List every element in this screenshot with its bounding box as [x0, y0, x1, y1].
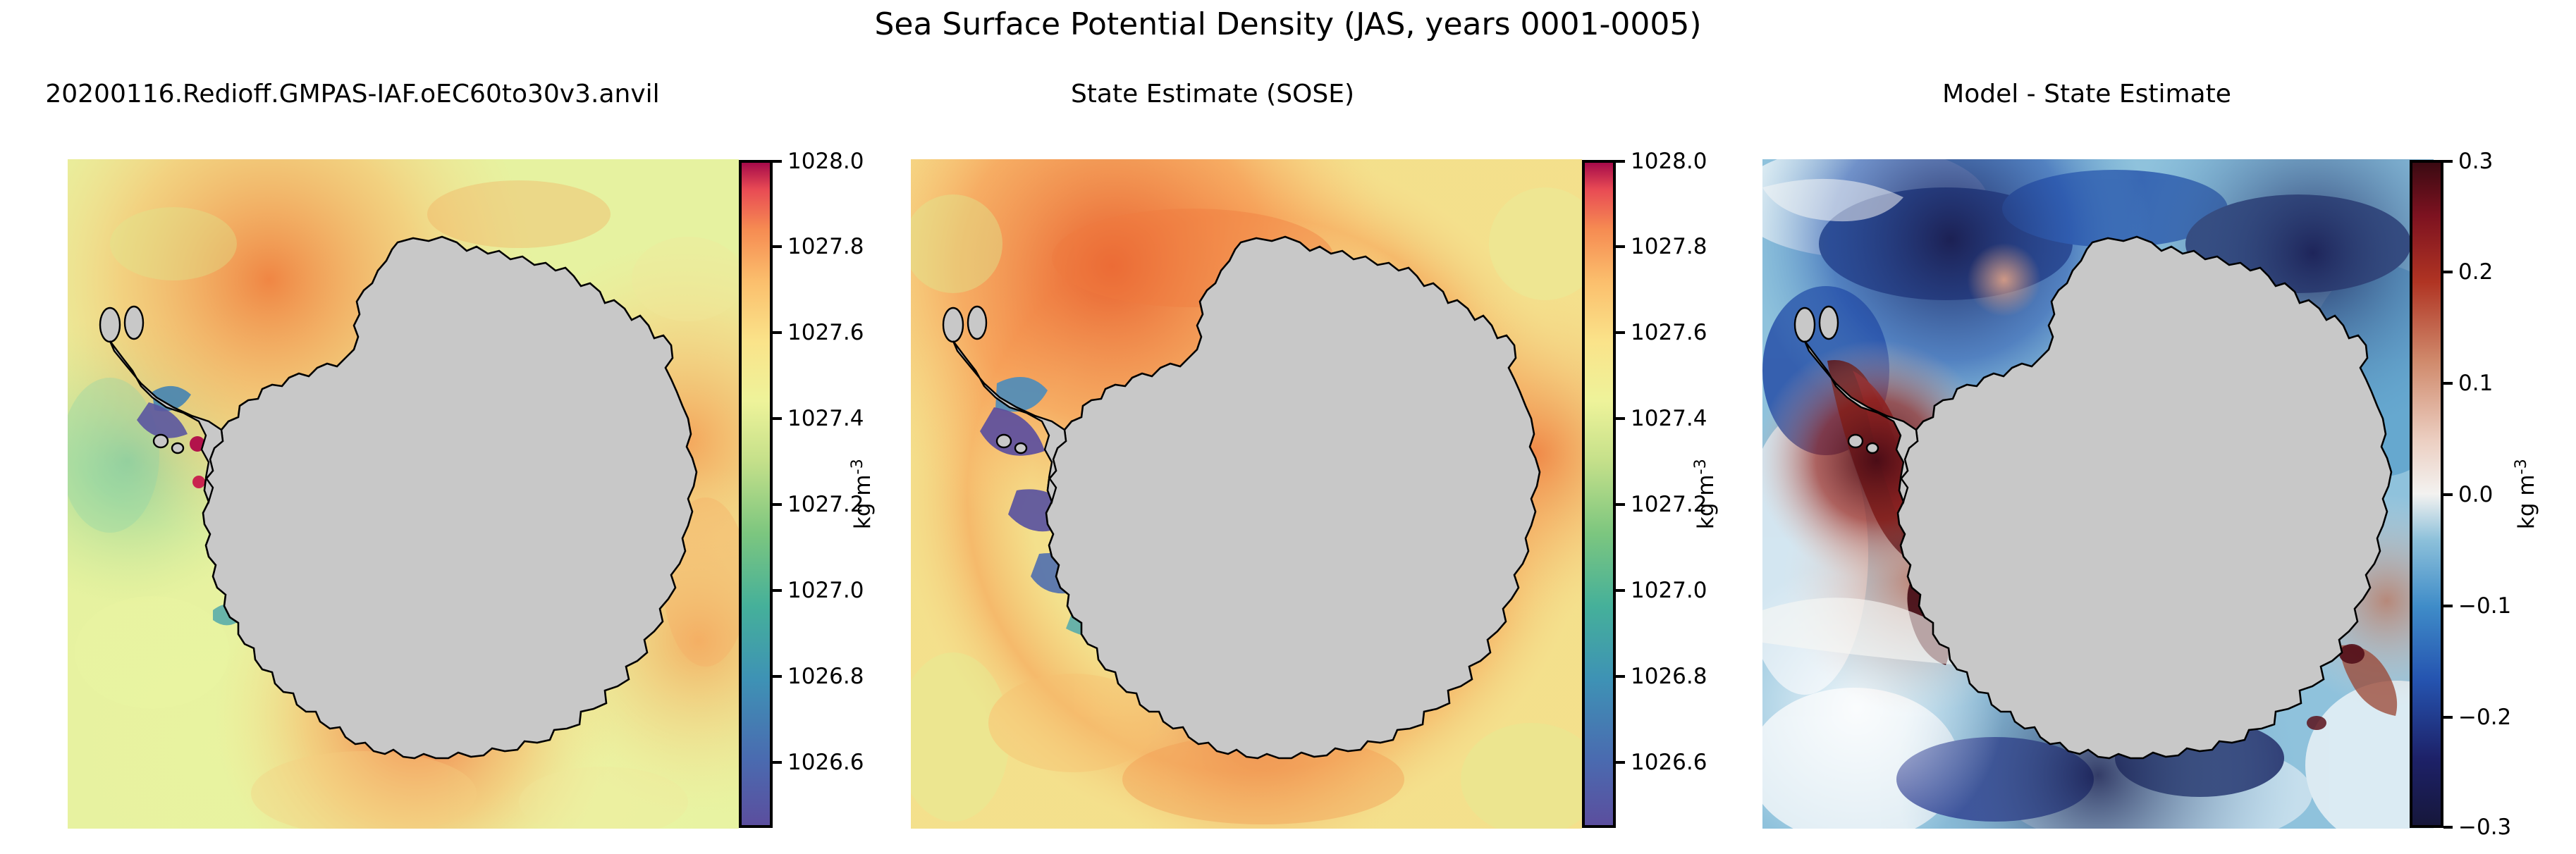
tick-mark — [773, 675, 782, 678]
colorbar-sose-gradient — [1585, 163, 1613, 825]
tick-label: −0.3 — [2458, 813, 2511, 841]
tick-label: 1027.4 — [787, 404, 864, 433]
tick-label: 0.3 — [2458, 147, 2493, 175]
tick-label: 1026.6 — [1631, 748, 1707, 776]
colorbar-sose-axis-label: kg m-3 — [1688, 438, 1718, 550]
tick-mark — [773, 589, 782, 592]
tick-label: 0.0 — [2458, 481, 2493, 509]
colorbar-unit-exponent: -3 — [2512, 459, 2530, 474]
map-panel-sose[interactable] — [911, 159, 1582, 829]
colorbar-unit-text: kg m — [2514, 474, 2539, 529]
tick-label: −0.1 — [2458, 592, 2511, 620]
tick-label: 0.1 — [2458, 369, 2493, 397]
tick-mark — [773, 761, 782, 764]
tick-mark — [2443, 605, 2453, 607]
tick-mark — [2443, 716, 2453, 719]
figure-canvas: Sea Surface Potential Density (JAS, year… — [0, 0, 2576, 854]
tick-label: 1026.8 — [787, 662, 864, 691]
map-svg-difference — [1762, 159, 2434, 829]
colorbar-model[interactable] — [739, 160, 773, 828]
tick-mark — [1616, 245, 1625, 248]
tick-mark — [773, 417, 782, 420]
map-svg-model — [68, 159, 739, 829]
colorbar-difference-gradient — [2412, 163, 2441, 825]
tick-mark — [1616, 761, 1625, 764]
tick-label: 1027.8 — [1631, 233, 1707, 261]
tick-mark — [2443, 493, 2453, 496]
tick-mark — [1616, 331, 1625, 334]
tick-label: 0.2 — [2458, 258, 2493, 286]
tick-mark — [1616, 417, 1625, 420]
tick-label: 1028.0 — [1631, 147, 1707, 175]
colorbar-unit-text: kg m — [1693, 474, 1719, 529]
panel-title-difference: Model - State Estimate — [1734, 79, 2439, 110]
tick-label: 1027.6 — [1631, 318, 1707, 347]
tick-mark — [773, 245, 782, 248]
tick-mark — [1616, 160, 1625, 163]
tick-label: −0.2 — [2458, 703, 2511, 731]
tick-mark — [2443, 826, 2453, 829]
colorbar-unit-exponent: -3 — [1691, 459, 1710, 474]
colorbar-model-gradient — [742, 163, 770, 825]
colorbar-unit-text: kg m — [850, 474, 876, 529]
map-panel-difference[interactable] — [1762, 159, 2434, 829]
tick-label: 1026.6 — [787, 748, 864, 776]
tick-label: 1027.0 — [1631, 576, 1707, 605]
tick-mark — [773, 160, 782, 163]
tick-label: 1026.8 — [1631, 662, 1707, 691]
tick-label: 1027.8 — [787, 233, 864, 261]
tick-mark — [2443, 271, 2453, 273]
panel-title-model: 20200116.Redioff.GMPAS-IAF.oEC60to30v3.a… — [0, 79, 705, 110]
tick-mark — [773, 331, 782, 334]
tick-label: 1027.6 — [787, 318, 864, 347]
map-panel-model[interactable] — [68, 159, 739, 829]
tick-label: 1027.0 — [787, 576, 864, 605]
panel-title-sose: State Estimate (SOSE) — [860, 79, 1565, 110]
tick-mark — [2443, 160, 2453, 163]
tick-label: 1028.0 — [787, 147, 864, 175]
tick-mark — [2443, 382, 2453, 385]
tick-mark — [773, 503, 782, 506]
colorbar-unit-exponent: -3 — [848, 459, 866, 474]
tick-mark — [1616, 589, 1625, 592]
tick-mark — [1616, 503, 1625, 506]
tick-mark — [1616, 675, 1625, 678]
tick-label: 1027.4 — [1631, 404, 1707, 433]
colorbar-sose[interactable] — [1582, 160, 1616, 828]
colorbar-difference-axis-label: kg m-3 — [2509, 438, 2539, 550]
figure-suptitle: Sea Surface Potential Density (JAS, year… — [0, 6, 2576, 44]
map-svg-sose — [911, 159, 1582, 829]
colorbar-model-axis-label: kg m-3 — [845, 438, 875, 550]
colorbar-difference[interactable] — [2410, 160, 2443, 828]
